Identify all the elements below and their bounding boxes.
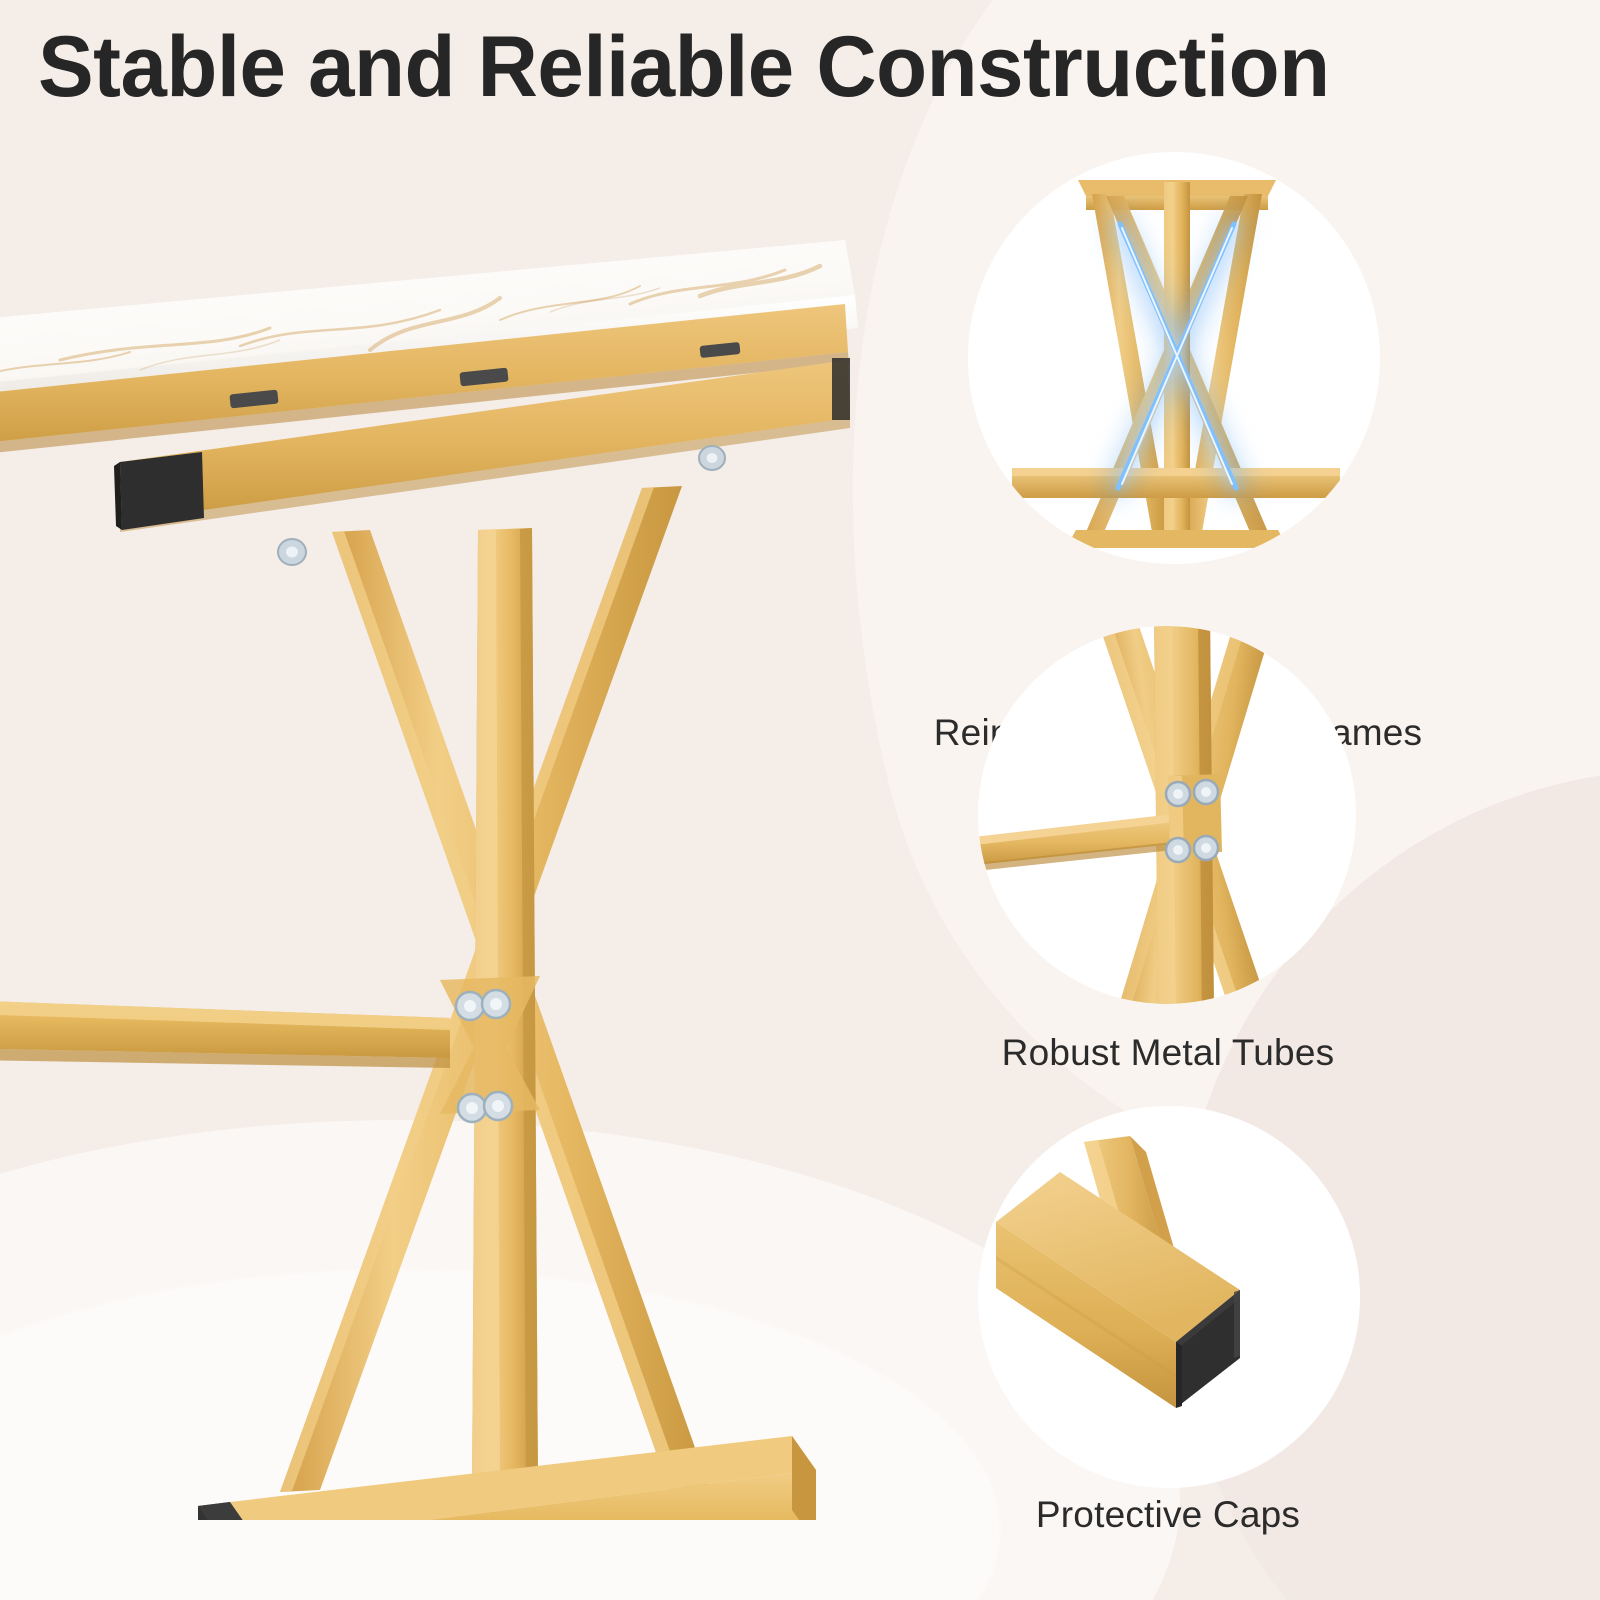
metal-tube-joint-icon <box>978 626 1356 1004</box>
feature-label-protective-caps: Protective Caps <box>898 1494 1438 1536</box>
center-stretcher-bar <box>0 996 450 1068</box>
protective-cap-icon <box>978 1106 1360 1488</box>
product-illustration <box>0 200 860 1520</box>
x-frame-icon <box>968 152 1380 564</box>
feature-label-metal-tubes: Robust Metal Tubes <box>898 1032 1438 1074</box>
page-title: Stable and Reliable Construction <box>38 22 1532 112</box>
infographic-canvas: Stable and Reliable Construction <box>0 0 1600 1600</box>
